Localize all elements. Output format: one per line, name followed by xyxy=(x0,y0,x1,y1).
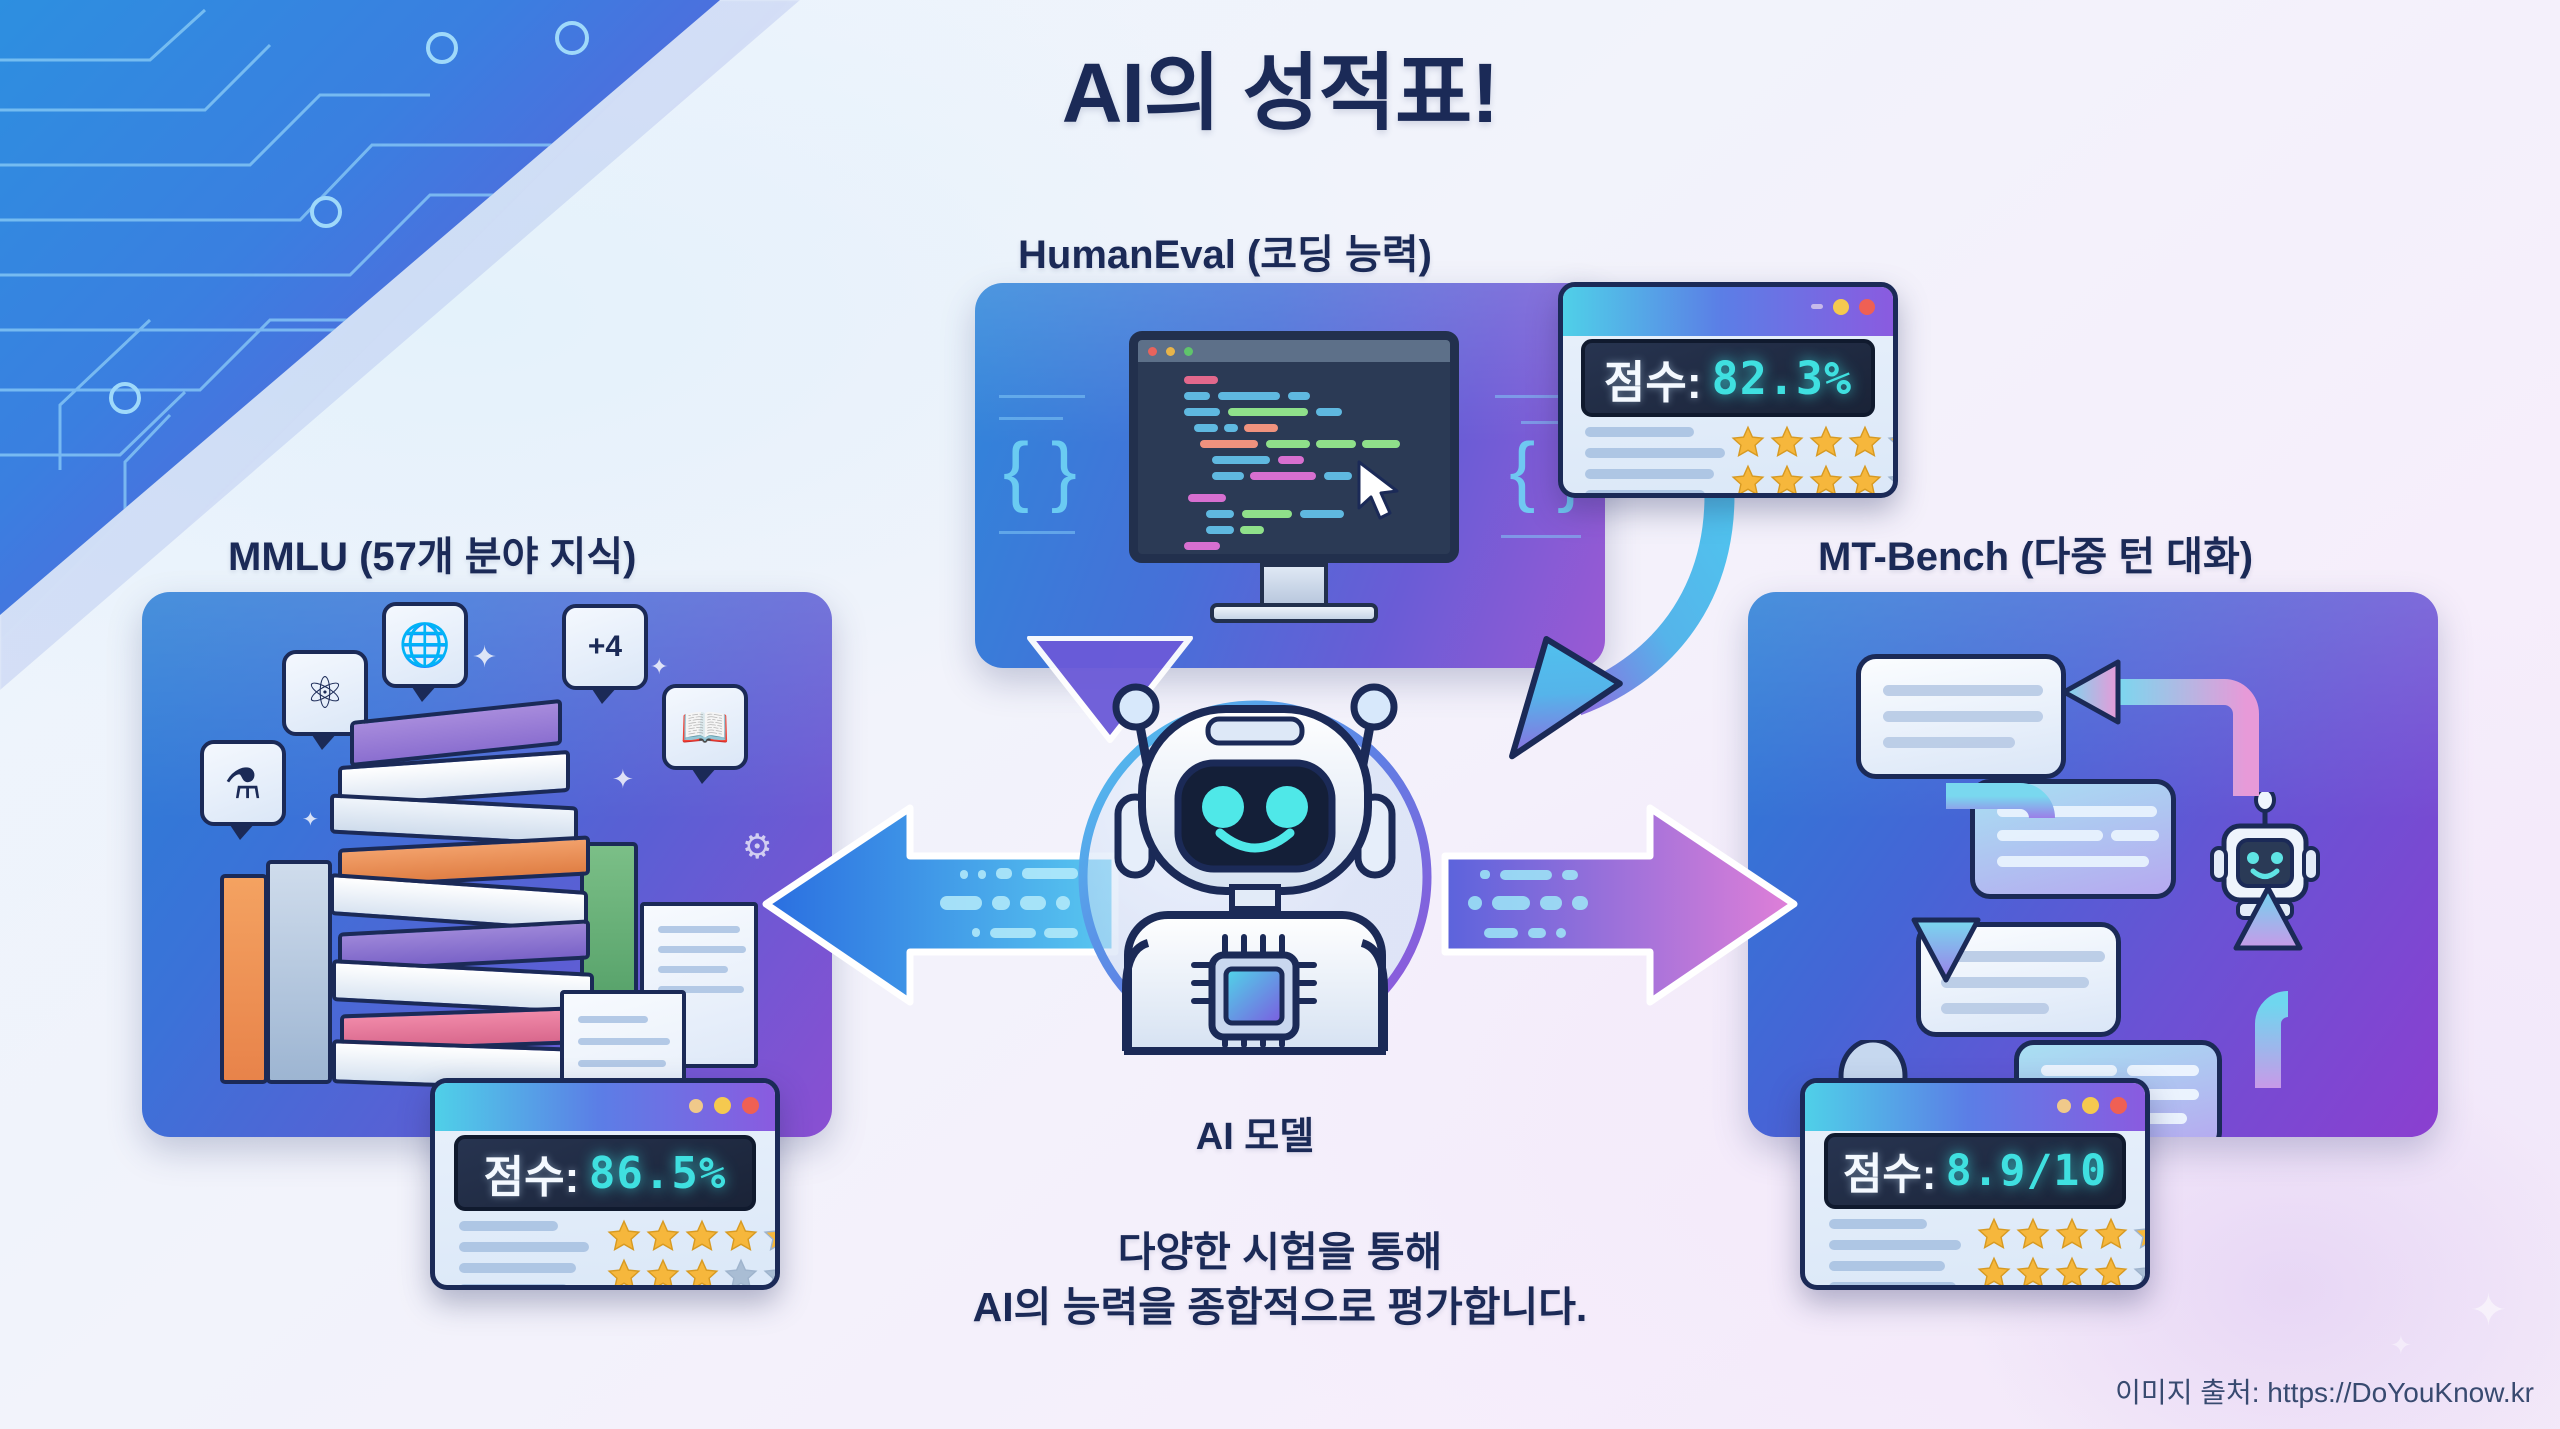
globe-icon: 🌐 xyxy=(382,602,468,688)
score-value: 8.9/10 xyxy=(1946,1146,2107,1196)
star-rating-mmlu xyxy=(607,1219,780,1290)
summary-caption: 다양한 시험을 통해 AI의 능력을 종합적으로 평가합니다. xyxy=(0,1225,2560,1335)
monitor-illustration xyxy=(1129,331,1459,563)
star-row-1 xyxy=(1977,1217,2150,1251)
score-card-humaneval[interactable]: 점수: 82.3% xyxy=(1558,282,1898,498)
score-label: 점수: xyxy=(484,1141,580,1205)
flask-icon: ⚗ xyxy=(200,740,286,826)
benchmark-panel-mmlu[interactable]: ⚛ 🌐 +4 📖 ⚗ ✦ ✦ ✦ ✦ ⚙ xyxy=(142,592,832,1137)
score-card-mmlu[interactable]: 점수: 86.5% xyxy=(430,1078,780,1290)
star-row-2 xyxy=(607,1258,780,1290)
close-dot[interactable] xyxy=(1859,299,1875,315)
cursor-arrow-icon xyxy=(1356,460,1402,522)
star-row-2 xyxy=(1731,464,1898,498)
caption-line-2: AI의 능력을 종합적으로 평가합니다. xyxy=(0,1280,2560,1335)
close-dot[interactable] xyxy=(2110,1097,2127,1114)
open-book-icon: 📖 xyxy=(662,684,748,770)
maximize-dot[interactable] xyxy=(714,1097,731,1114)
star-row-1 xyxy=(607,1219,780,1253)
curly-brace-left-icon: { } xyxy=(1003,425,1077,516)
card-text-lines xyxy=(1829,1219,1961,1290)
minimize-dot[interactable] xyxy=(2057,1099,2071,1113)
ai-model-robot[interactable] xyxy=(1060,665,1450,1065)
score-card-mtbench[interactable]: 점수: 8.9/10 xyxy=(1800,1078,2150,1290)
math-plus-icon: +4 xyxy=(562,604,648,690)
panel-label-mtbench: MT-Bench (다중 턴 대화) xyxy=(1818,524,2253,582)
code-editor-screen xyxy=(1129,331,1459,563)
minimize-dot[interactable] xyxy=(1811,304,1823,309)
curved-arrow-score-to-robot xyxy=(1430,455,1860,805)
score-label: 점수: xyxy=(1843,1140,1936,1202)
card-text-lines xyxy=(1585,427,1725,498)
maximize-dot[interactable] xyxy=(1833,299,1849,315)
panel-label-mmlu: MMLU (57개 분야 지식) xyxy=(228,524,636,582)
page-title: AI의 성적표! xyxy=(0,26,2560,147)
panel-label-humaneval: HumanEval (코딩 능력) xyxy=(1018,222,1432,280)
caption-line-1: 다양한 시험을 통해 xyxy=(0,1225,2560,1280)
star-row-1 xyxy=(1731,425,1898,459)
star-row-2 xyxy=(1977,1256,2150,1290)
score-label: 점수: xyxy=(1604,346,1702,411)
score-display-mmlu: 점수: 86.5% xyxy=(454,1135,757,1211)
arrow-to-mtbench xyxy=(1440,790,1800,1020)
image-source-credit: 이미지 출처: https://DoYouKnow.kr xyxy=(2115,1371,2534,1411)
score-display-humaneval: 점수: 82.3% xyxy=(1581,339,1875,417)
star-rating-mtbench xyxy=(1977,1217,2150,1290)
maximize-dot[interactable] xyxy=(2082,1097,2099,1114)
minimize-dot[interactable] xyxy=(689,1099,703,1113)
score-value: 82.3% xyxy=(1712,352,1852,405)
score-value: 86.5% xyxy=(589,1148,726,1199)
book-grey xyxy=(266,860,332,1084)
book-orange xyxy=(220,874,268,1084)
conversation-loop-arrows xyxy=(1806,636,2406,1137)
card-text-lines xyxy=(459,1221,589,1290)
score-display-mtbench: 점수: 8.9/10 xyxy=(1824,1133,2127,1209)
star-rating-humaneval xyxy=(1731,425,1898,498)
robot-label: AI 모델 xyxy=(1060,1105,1450,1160)
close-dot[interactable] xyxy=(742,1097,759,1114)
